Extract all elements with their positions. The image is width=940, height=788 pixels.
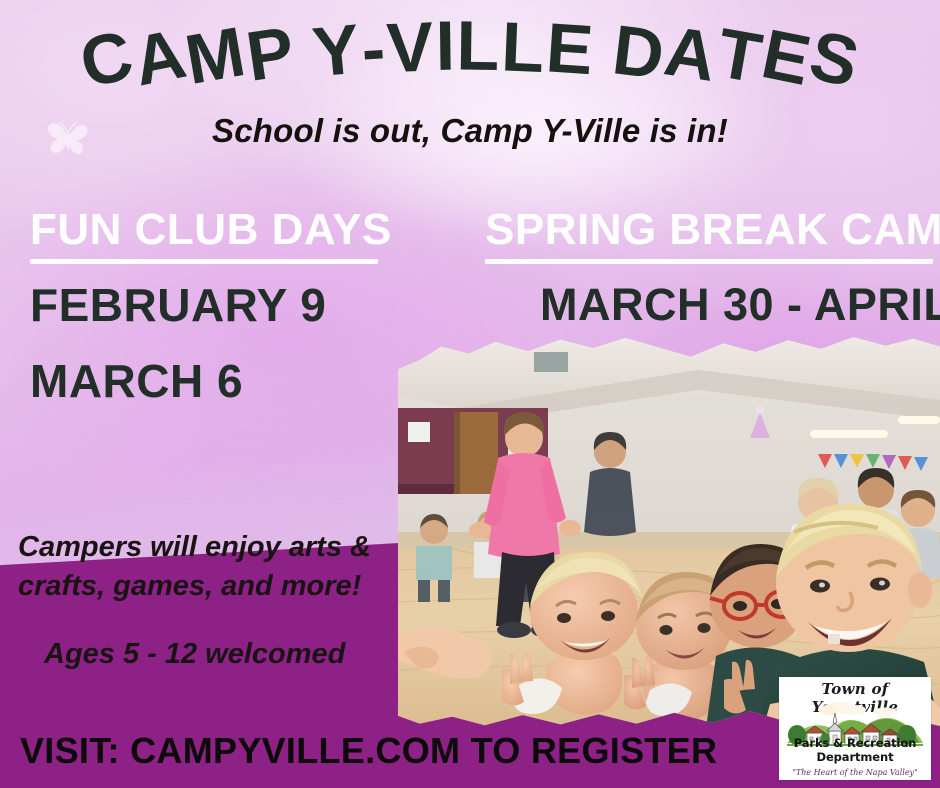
heading-spring-break-camp: SPRING BREAK CAMP [485,208,940,264]
yountville-parks-logo: Town of Yountville [779,677,931,780]
date-fun-club-1: FEBRUARY 9 [30,282,326,328]
heading-underline [30,259,378,264]
logo-tagline-text: "The Heart of the Napa Valley" [779,768,931,777]
children-photo [398,334,940,726]
ages-line: Ages 5 - 12 welcomed [44,638,345,671]
cta-register-text[interactable]: VISIT: CAMPYVILLE.COM TO REGISTER [20,730,717,772]
date-fun-club-2: MARCH 6 [30,358,243,404]
heading-spring-break-camp-label: SPRING BREAK CAMP [485,205,940,254]
heading-fun-club-days-label: FUN CLUB DAYS [30,205,392,254]
logo-department-text: Parks & Recreation Department [779,736,931,764]
subtitle: School is out, Camp Y-Ville is in! [0,112,940,150]
date-spring-break: MARCH 30 - APRIL 3 [540,282,940,327]
flyer-canvas: CAMP Y-VILLE DATES School is out, Camp Y… [0,0,940,788]
heading-underline [485,259,933,264]
body-copy: Campers will enjoy arts & crafts, games,… [18,528,418,606]
heading-fun-club-days: FUN CLUB DAYS [30,208,392,264]
